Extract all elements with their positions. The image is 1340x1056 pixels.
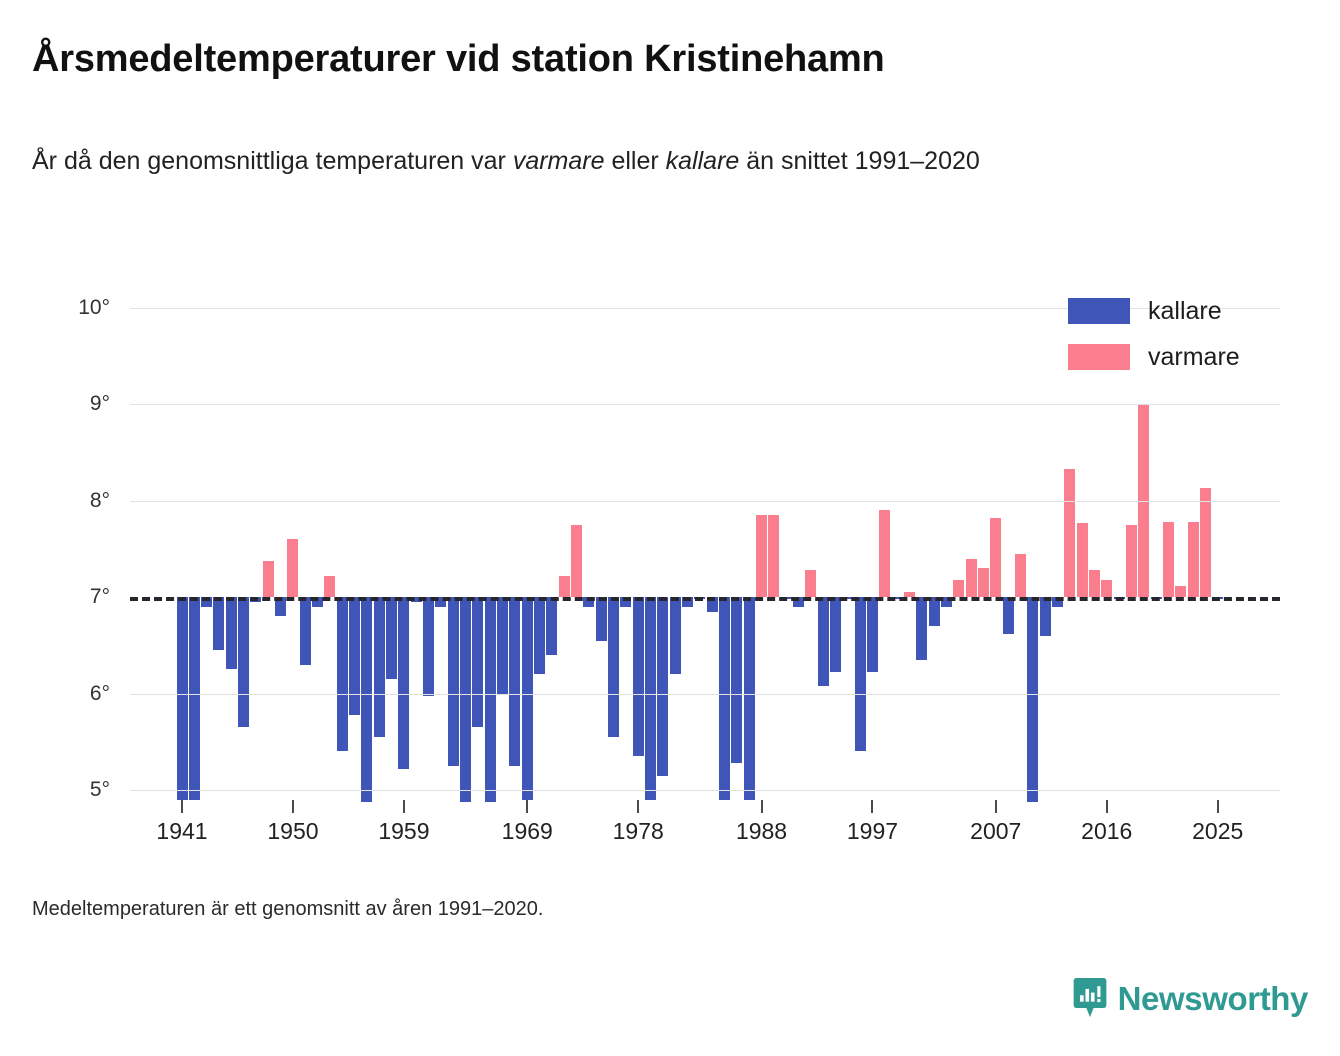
legend-item-kallare[interactable]: kallare — [1068, 292, 1240, 330]
bar-1969[interactable] — [522, 597, 533, 799]
gridline — [130, 790, 1280, 791]
bar-1953[interactable] — [324, 576, 335, 597]
bar-2011[interactable] — [1040, 597, 1051, 636]
newsworthy-logo[interactable]: Newsworthy — [1072, 978, 1308, 1018]
x-axis-tick — [1217, 800, 1219, 813]
x-axis-tick — [526, 800, 528, 813]
x-axis-tick — [292, 800, 294, 813]
bar-1995[interactable] — [842, 597, 853, 599]
x-axis-tick — [995, 800, 997, 813]
x-axis-tick-label: 1988 — [736, 818, 787, 845]
x-axis-tick-label: 2016 — [1081, 818, 1132, 845]
legend-item-varmare[interactable]: varmare — [1068, 338, 1240, 376]
bar-2016[interactable] — [1101, 580, 1112, 597]
bar-1952[interactable] — [312, 597, 323, 607]
bar-2012[interactable] — [1052, 597, 1063, 607]
bar-2019[interactable] — [1138, 404, 1149, 597]
legend-swatch-kallare-icon — [1068, 298, 1130, 324]
bar-1979[interactable] — [645, 597, 656, 799]
y-axis-tick-label: 6° — [20, 682, 110, 706]
bar-1946[interactable] — [238, 597, 249, 727]
bar-2024[interactable] — [1200, 488, 1211, 597]
bar-2015[interactable] — [1089, 570, 1100, 597]
x-axis-tick-label: 2025 — [1192, 818, 1243, 845]
bar-1964[interactable] — [460, 597, 471, 801]
bar-1983[interactable] — [694, 597, 705, 599]
legend-label-kallare: kallare — [1148, 297, 1222, 326]
bar-2007[interactable] — [990, 518, 1001, 597]
bar-2004[interactable] — [953, 580, 964, 597]
bar-1977[interactable] — [620, 597, 631, 607]
bar-1987[interactable] — [744, 597, 755, 799]
bar-1994[interactable] — [830, 597, 841, 672]
bar-1951[interactable] — [300, 597, 311, 664]
bar-1945[interactable] — [226, 597, 237, 669]
bar-1997[interactable] — [867, 597, 878, 672]
x-axis-tick-label: 1978 — [613, 818, 664, 845]
bar-2006[interactable] — [978, 568, 989, 597]
bar-1985[interactable] — [719, 597, 730, 799]
bar-1944[interactable] — [213, 597, 224, 650]
y-axis-tick-label: 9° — [20, 392, 110, 416]
bar-2010[interactable] — [1027, 597, 1038, 801]
bar-2005[interactable] — [966, 559, 977, 598]
bar-2023[interactable] — [1188, 522, 1199, 597]
x-axis-tick — [761, 800, 763, 813]
bar-1990[interactable] — [781, 597, 792, 599]
chart-page: Årsmedeltemperaturer vid station Kristin… — [0, 0, 1340, 1056]
bar-2018[interactable] — [1126, 525, 1137, 597]
bar-1963[interactable] — [448, 597, 459, 766]
gridline — [130, 404, 1280, 405]
page-title: Årsmedeltemperaturer vid station Kristin… — [32, 38, 885, 81]
x-axis-tick — [1106, 800, 1108, 813]
chart-footnote: Medeltemperaturen är ett genomsnitt av å… — [32, 898, 543, 921]
bar-1993[interactable] — [818, 597, 829, 686]
bar-1991[interactable] — [793, 597, 804, 607]
bar-2009[interactable] — [1015, 554, 1026, 597]
newsworthy-mark-icon — [1072, 978, 1108, 1018]
x-axis-tick — [871, 800, 873, 813]
bar-1967[interactable] — [497, 597, 508, 693]
bar-1962[interactable] — [435, 597, 446, 607]
bar-1975[interactable] — [596, 597, 607, 640]
bar-1989[interactable] — [768, 515, 779, 597]
bar-2022[interactable] — [1175, 586, 1186, 598]
bar-1998[interactable] — [879, 510, 890, 597]
bar-2008[interactable] — [1003, 597, 1014, 634]
bar-1958[interactable] — [386, 597, 397, 679]
gridline — [130, 694, 1280, 695]
gridline — [130, 501, 1280, 502]
x-axis-tick-label: 1969 — [502, 818, 553, 845]
page-subtitle: År då den genomsnittliga temperaturen va… — [32, 144, 1262, 180]
bar-1942[interactable] — [189, 597, 200, 799]
bar-1948[interactable] — [263, 561, 274, 598]
bar-1988[interactable] — [756, 515, 767, 597]
bar-2017[interactable] — [1114, 597, 1125, 599]
bar-1955[interactable] — [349, 597, 360, 715]
bar-1947[interactable] — [250, 597, 261, 602]
bar-2014[interactable] — [1077, 523, 1088, 597]
bar-1949[interactable] — [275, 597, 286, 616]
x-axis-tick — [181, 800, 183, 813]
bar-1984[interactable] — [707, 597, 718, 611]
bar-1974[interactable] — [583, 597, 594, 607]
x-axis-tick — [637, 800, 639, 813]
x-axis-tick-label: 1950 — [267, 818, 318, 845]
x-axis-tick-label: 1941 — [156, 818, 207, 845]
bar-1960[interactable] — [411, 597, 422, 602]
newsworthy-wordmark: Newsworthy — [1118, 982, 1308, 1015]
bar-1980[interactable] — [657, 597, 668, 775]
chart-legend: kallare varmare — [1068, 292, 1240, 384]
bar-1956[interactable] — [361, 597, 372, 801]
bar-1957[interactable] — [374, 597, 385, 737]
subtitle-text-2: eller — [605, 147, 666, 175]
x-axis-tick — [403, 800, 405, 813]
bar-2001[interactable] — [916, 597, 927, 660]
bar-2000[interactable] — [904, 592, 915, 597]
subtitle-emphasis-varmare: varmare — [513, 147, 605, 175]
bar-1982[interactable] — [682, 597, 693, 607]
bar-1981[interactable] — [670, 597, 681, 674]
y-axis-tick-label: 7° — [20, 585, 110, 609]
bar-1996[interactable] — [855, 597, 866, 751]
bar-1950[interactable] — [287, 539, 298, 597]
bar-1965[interactable] — [472, 597, 483, 727]
bar-1973[interactable] — [571, 525, 582, 597]
bar-1966[interactable] — [485, 597, 496, 801]
bar-1943[interactable] — [201, 597, 212, 607]
bar-1972[interactable] — [559, 576, 570, 597]
y-axis-tick-label: 10° — [20, 296, 110, 320]
bar-1992[interactable] — [805, 570, 816, 597]
legend-label-varmare: varmare — [1148, 343, 1240, 372]
bar-1999[interactable] — [892, 597, 903, 599]
bar-1976[interactable] — [608, 597, 619, 737]
baseline-dashed-line — [130, 597, 1280, 601]
bar-2021[interactable] — [1163, 522, 1174, 597]
subtitle-text-3: än snittet 1991–2020 — [739, 147, 979, 175]
bar-2003[interactable] — [941, 597, 952, 607]
x-axis-tick-label: 1959 — [378, 818, 429, 845]
subtitle-emphasis-kallare: kallare — [666, 147, 740, 175]
bar-1954[interactable] — [337, 597, 348, 751]
bar-1971[interactable] — [546, 597, 557, 655]
bar-2002[interactable] — [929, 597, 940, 626]
bar-2020[interactable] — [1151, 597, 1162, 599]
bar-1986[interactable] — [731, 597, 742, 763]
bar-1961[interactable] — [423, 597, 434, 695]
bar-1978[interactable] — [633, 597, 644, 756]
x-axis-tick-label: 2007 — [970, 818, 1021, 845]
bar-2013[interactable] — [1064, 469, 1075, 597]
subtitle-text-1: År då den genomsnittliga temperaturen va… — [32, 147, 513, 175]
y-axis-tick-label: 5° — [20, 778, 110, 802]
y-axis-tick-label: 8° — [20, 489, 110, 513]
legend-swatch-varmare-icon — [1068, 344, 1130, 370]
bar-1970[interactable] — [534, 597, 545, 674]
bar-1959[interactable] — [398, 597, 409, 769]
bar-1941[interactable] — [177, 597, 188, 799]
bar-1968[interactable] — [509, 597, 520, 766]
x-axis-tick-label: 1997 — [847, 818, 898, 845]
bar-2025[interactable] — [1212, 597, 1223, 599]
